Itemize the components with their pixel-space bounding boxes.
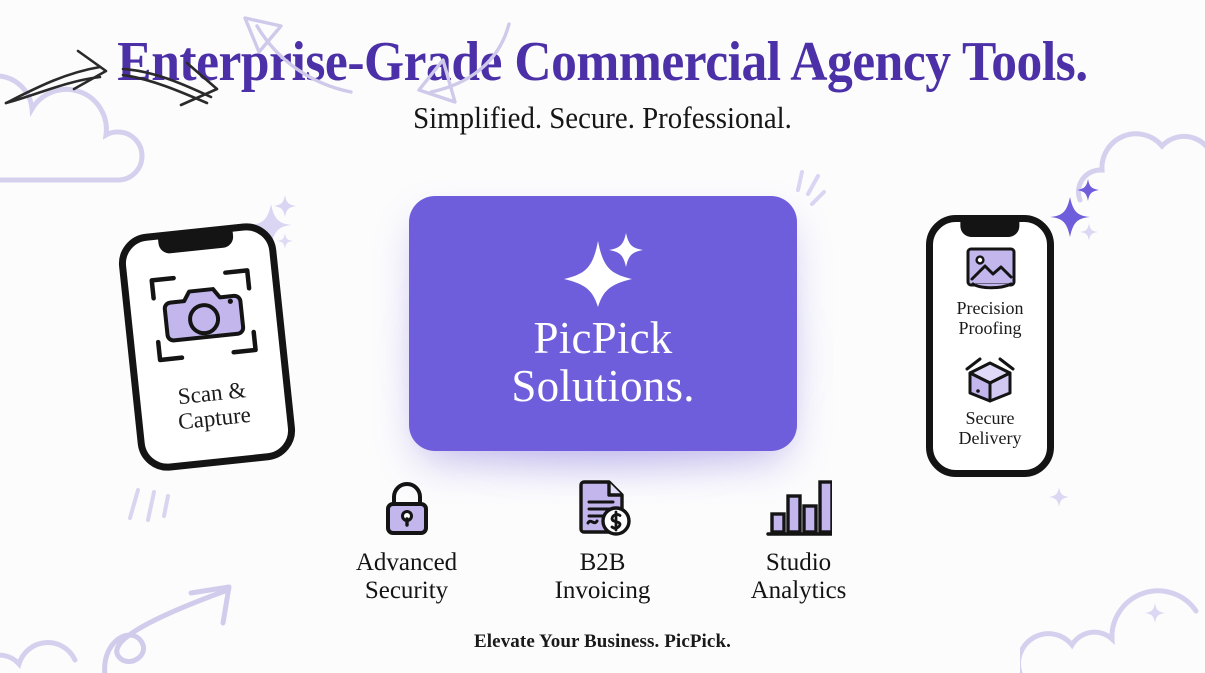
header-block: Enterprise-Grade Commercial Agency Tools… bbox=[0, 34, 1205, 133]
photos-icon bbox=[961, 243, 1019, 293]
center-card[interactable]: PicPick Solutions. bbox=[409, 196, 797, 451]
camera-scan-icon bbox=[144, 258, 262, 373]
phone-right-item-0-label-line2: Proofing bbox=[957, 319, 1024, 339]
feature-b2b-invoicing-label: B2B Invoicing bbox=[555, 549, 651, 605]
phone-left-scan-capture[interactable]: Scan & Capture bbox=[116, 220, 298, 473]
sparkle-icon-bottom-right-small bbox=[1144, 602, 1166, 624]
infographic-canvas: Enterprise-Grade Commercial Agency Tools… bbox=[0, 0, 1205, 673]
footer-tagline: Elevate Your Business. PicPick. bbox=[0, 631, 1205, 653]
phone-right-item-0-label: Precision Proofing bbox=[957, 299, 1024, 339]
feature-2-label-line2: Analytics bbox=[751, 577, 847, 605]
feature-advanced-security-label: Advanced Security bbox=[356, 549, 457, 605]
feature-2-label-line1: Studio bbox=[751, 549, 847, 577]
feature-studio-analytics[interactable]: Studio Analytics bbox=[701, 478, 897, 605]
phone-right-item-1-label-line2: Delivery bbox=[959, 429, 1022, 449]
sparkle-icon-right-large bbox=[1048, 195, 1092, 239]
center-card-title-line2: Solutions. bbox=[511, 363, 694, 411]
bar-chart-icon bbox=[766, 476, 832, 538]
page-subtitle: Simplified. Secure. Professional. bbox=[42, 102, 1163, 133]
page-title: Enterprise-Grade Commercial Agency Tools… bbox=[48, 34, 1157, 90]
sparkle-icon-right-small bbox=[1076, 178, 1100, 202]
phone-right-item-1-label-line1: Secure bbox=[959, 409, 1022, 429]
feature-b2b-invoicing[interactable]: B2B Invoicing bbox=[505, 478, 701, 605]
sparkle-icon-left-tiny bbox=[276, 232, 294, 250]
package-box-icon bbox=[964, 355, 1016, 403]
feature-0-label-line2: Security bbox=[356, 577, 457, 605]
feature-0-label-line1: Advanced bbox=[356, 549, 457, 577]
invoice-dollar-icon bbox=[572, 476, 634, 538]
phone-right-delivery[interactable]: Precision Proofing Secure Delivery bbox=[926, 215, 1054, 477]
feature-advanced-security[interactable]: Advanced Security bbox=[309, 478, 505, 605]
center-card-title-line1: PicPick bbox=[511, 315, 694, 363]
sparkle-icon bbox=[560, 231, 646, 309]
feature-1-label-line1: B2B bbox=[555, 549, 651, 577]
sparkle-icon-right-tiny bbox=[1079, 222, 1099, 242]
lock-icon bbox=[377, 478, 437, 538]
feature-1-label-line2: Invoicing bbox=[555, 577, 651, 605]
phone-left-label: Scan & Capture bbox=[174, 377, 252, 435]
feature-row: Advanced Security B2B Invoicing bbox=[0, 478, 1205, 605]
feature-studio-analytics-label: Studio Analytics bbox=[751, 549, 847, 605]
phone-right-item-0-label-line1: Precision bbox=[957, 299, 1024, 319]
center-card-title: PicPick Solutions. bbox=[511, 315, 694, 410]
phone-right-item-1-label: Secure Delivery bbox=[959, 409, 1022, 449]
sparkle-icon-left-small bbox=[273, 194, 297, 218]
